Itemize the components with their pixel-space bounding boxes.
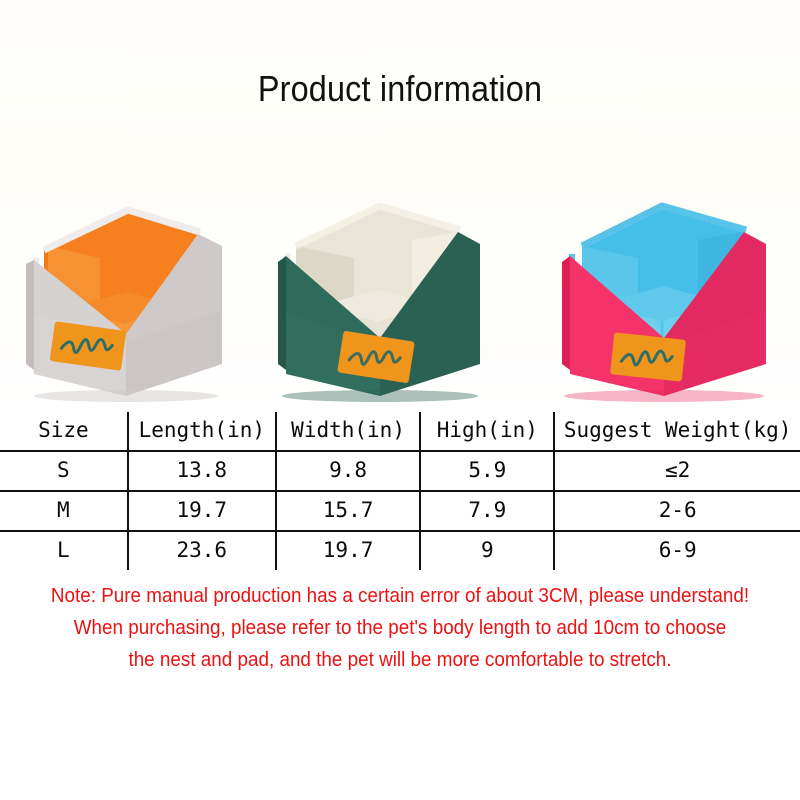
note-line-2: When purchasing, please refer to the pet…	[32, 612, 768, 644]
bed-exterior-edge	[26, 260, 34, 370]
product-image-pet-bed-pink-blue	[546, 188, 778, 410]
cell-size: L	[0, 531, 128, 570]
table-row: S 13.8 9.8 5.9 ≤2	[0, 451, 800, 491]
bed-shadow	[34, 390, 218, 402]
cell-size: M	[0, 491, 128, 531]
specification-table: Size Length(in) Width(in) High(in) Sugge…	[0, 412, 800, 570]
cell-width: 19.7	[276, 531, 420, 570]
cell-length: 13.8	[128, 451, 276, 491]
table-header-size: Size	[0, 412, 128, 451]
cell-high: 5.9	[420, 451, 554, 491]
cell-width: 9.8	[276, 451, 420, 491]
product-image-pet-bed-green	[262, 186, 494, 408]
page-title: Product information	[40, 68, 760, 110]
note-line-3: the nest and pad, and the pet will be mo…	[32, 644, 768, 676]
table-header-row: Size Length(in) Width(in) High(in) Sugge…	[0, 412, 800, 451]
product-photo-row	[0, 178, 800, 403]
cell-suggest-weight: 6-9	[554, 531, 800, 570]
cell-length: 19.7	[128, 491, 276, 531]
cell-width: 15.7	[276, 491, 420, 531]
bed-shadow	[564, 390, 764, 402]
disclaimer-note: Note: Pure manual production has a certa…	[0, 580, 800, 676]
cell-high: 7.9	[420, 491, 554, 531]
table-header-length: Length(in)	[128, 412, 276, 451]
table-row: L 23.6 19.7 9 6-9	[0, 531, 800, 570]
cell-length: 23.6	[128, 531, 276, 570]
table-header-high: High(in)	[420, 412, 554, 451]
cell-suggest-weight: ≤2	[554, 451, 800, 491]
note-line-1: Note: Pure manual production has a certa…	[32, 580, 768, 612]
bed-exterior-edge	[562, 256, 570, 370]
product-image-pet-bed-orange	[8, 184, 240, 406]
cell-size: S	[0, 451, 128, 491]
table-header-suggest-weight: Suggest Weight(kg)	[554, 412, 800, 451]
cell-high: 9	[420, 531, 554, 570]
bed-shadow	[282, 390, 478, 402]
table-header-width: Width(in)	[276, 412, 420, 451]
table-row: M 19.7 15.7 7.9 2-6	[0, 491, 800, 531]
cell-suggest-weight: 2-6	[554, 491, 800, 531]
bed-exterior-edge	[278, 256, 286, 370]
